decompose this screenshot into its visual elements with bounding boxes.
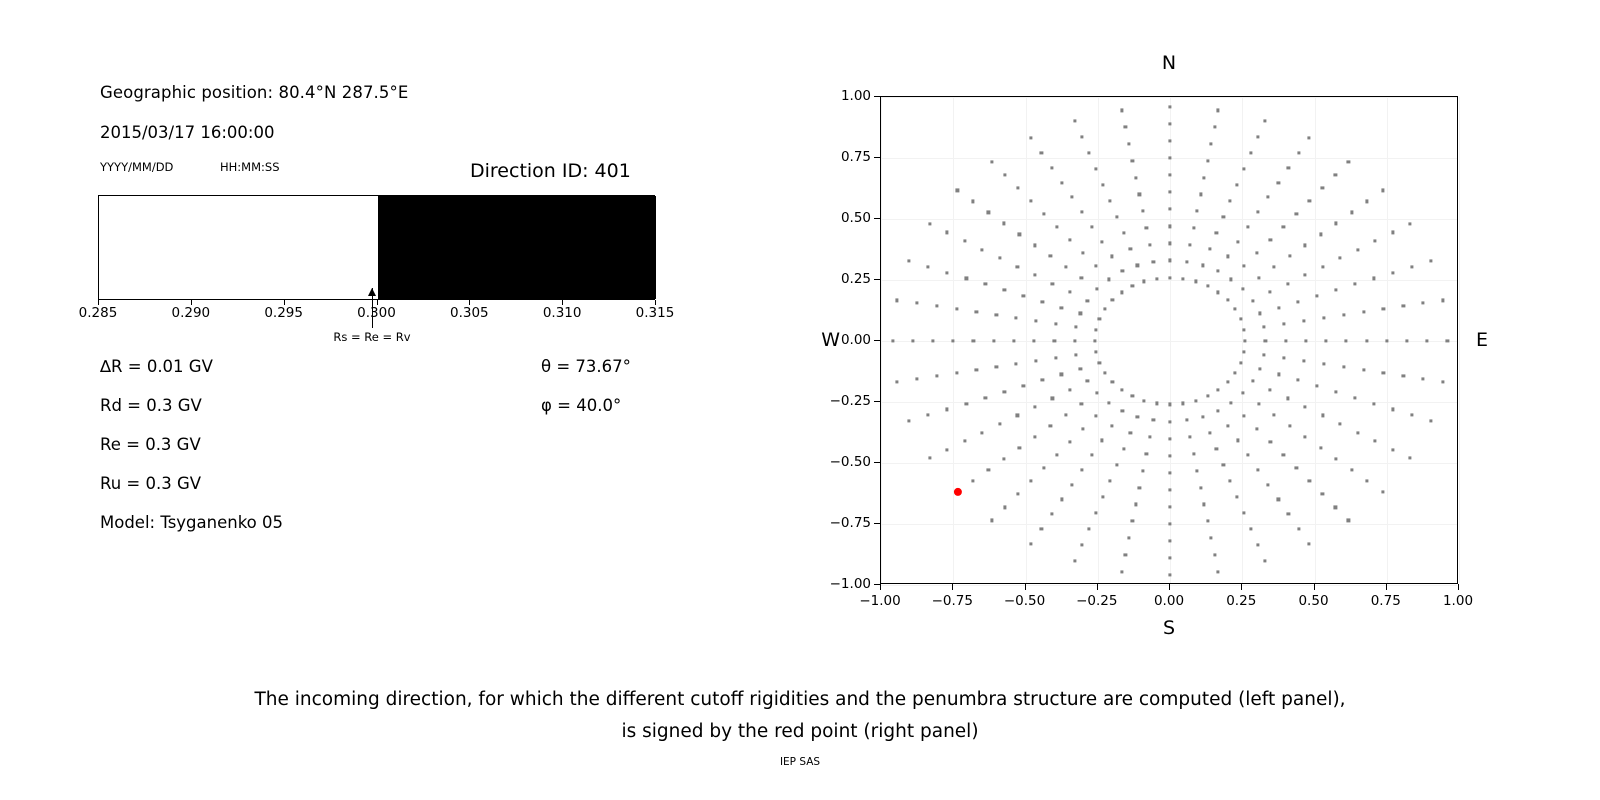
direction-point	[1365, 200, 1368, 203]
direction-point	[1382, 308, 1385, 311]
direction-point	[1107, 401, 1110, 404]
direction-point	[946, 271, 949, 274]
direction-point	[1244, 339, 1247, 342]
direction-point	[1391, 231, 1394, 234]
penumbra-tick-label: 0.310	[543, 305, 582, 321]
direction-point	[1060, 306, 1063, 309]
direction-point	[1101, 183, 1104, 186]
direction-point	[1381, 189, 1384, 192]
caption-line-1: The incoming direction, for which the di…	[0, 684, 1600, 716]
direction-point	[1282, 453, 1285, 456]
direction-point	[1229, 479, 1232, 482]
direction-point	[1322, 362, 1325, 365]
direction-point	[987, 211, 990, 214]
parameter-ru: Ru = 0.3 GV	[100, 474, 201, 493]
scatter-y-tick	[874, 340, 880, 341]
direction-point	[1051, 282, 1054, 285]
direction-point	[965, 402, 968, 405]
direction-point	[1257, 402, 1260, 405]
direction-point	[1053, 339, 1056, 342]
direction-point	[1168, 122, 1171, 125]
direction-point	[1080, 277, 1083, 280]
grid-line-horizontal	[881, 97, 1457, 98]
direction-point	[1064, 266, 1067, 269]
direction-point	[1018, 233, 1021, 236]
direction-point	[1365, 339, 1368, 342]
direction-point	[1136, 264, 1139, 267]
direction-point	[1081, 427, 1084, 430]
direction-point	[1168, 437, 1171, 440]
direction-point	[1070, 483, 1073, 486]
direction-point	[1391, 448, 1394, 451]
direction-point	[1168, 539, 1171, 542]
direction-point	[1060, 373, 1063, 376]
direction-point	[1304, 339, 1307, 342]
direction-point	[1374, 439, 1377, 442]
direction-point	[1094, 265, 1097, 268]
direction-point	[1168, 208, 1171, 211]
penumbra-tick-label: 0.290	[172, 305, 211, 321]
direction-point	[1243, 414, 1246, 417]
direction-point	[1233, 308, 1236, 311]
direction-point	[965, 277, 968, 280]
direction-point	[1242, 328, 1245, 331]
scatter-x-tick	[1097, 584, 1098, 590]
direction-point	[1267, 483, 1270, 486]
parameter-model: Model: Tsyganenko 05	[100, 513, 283, 532]
scatter-y-tick-label: −0.75	[830, 515, 871, 531]
scatter-x-tick	[1169, 584, 1170, 590]
direction-point	[1272, 266, 1275, 269]
direction-point	[1243, 167, 1246, 170]
direction-point	[1188, 436, 1191, 439]
penumbra-tick-label: 0.300	[357, 305, 396, 321]
direction-point	[1257, 277, 1260, 280]
direction-point	[955, 371, 958, 374]
direction-point	[1319, 446, 1322, 449]
scatter-x-tick	[1241, 584, 1242, 590]
direction-point	[1356, 431, 1359, 434]
direction-point	[1145, 452, 1148, 455]
direction-point	[1315, 294, 1318, 297]
grid-line-vertical	[1315, 97, 1316, 583]
direction-point	[1100, 240, 1103, 243]
direction-point	[1035, 359, 1038, 362]
direction-point	[956, 189, 959, 192]
grid-line-horizontal	[881, 219, 1457, 220]
direction-point	[1304, 405, 1307, 408]
direction-point	[1131, 284, 1134, 287]
direction-point	[1080, 135, 1083, 138]
direction-point	[1022, 294, 1025, 297]
direction-point	[1143, 399, 1146, 402]
direction-point	[1287, 513, 1290, 516]
direction-point	[1124, 553, 1127, 556]
direction-point	[1134, 503, 1137, 506]
direction-point	[1103, 308, 1106, 311]
scatter-x-tick-label: 0.75	[1371, 593, 1401, 609]
direction-point	[1206, 520, 1209, 523]
time-format-label: HH:MM:SS	[220, 160, 280, 174]
scatter-x-tick	[1458, 584, 1459, 590]
direction-point	[1033, 405, 1036, 408]
direction-point	[1120, 291, 1123, 294]
figure-canvas: Geographic position: 80.4°N 287.5°E 2015…	[0, 0, 1600, 800]
direction-point	[1402, 374, 1405, 377]
direction-point	[1145, 226, 1148, 229]
direction-point	[1381, 490, 1384, 493]
direction-point	[992, 339, 995, 342]
direction-point	[972, 339, 975, 342]
direction-point	[1382, 371, 1385, 374]
direction-point	[1141, 210, 1144, 213]
direction-point	[1215, 447, 1218, 450]
direction-point	[1286, 282, 1289, 285]
direction-point	[1192, 452, 1195, 455]
direction-point	[1155, 402, 1158, 405]
scatter-x-tick	[1386, 584, 1387, 590]
direction-point	[1121, 409, 1124, 412]
direction-point	[1342, 365, 1345, 368]
direction-point	[911, 339, 914, 342]
grid-line-vertical	[1026, 97, 1027, 583]
compass-west-label: W	[821, 329, 840, 351]
scatter-x-tick-label: 1.00	[1443, 593, 1473, 609]
direction-point	[1315, 384, 1318, 387]
direction-point	[1287, 166, 1290, 169]
grid-line-horizontal	[881, 463, 1457, 464]
direction-point	[1090, 225, 1093, 228]
direction-point	[1152, 419, 1155, 422]
direction-point	[1350, 468, 1353, 471]
direction-point	[1002, 222, 1005, 225]
scatter-x-tick-label: −1.00	[859, 593, 900, 609]
direction-point	[1347, 160, 1350, 163]
direction-point	[1152, 260, 1155, 263]
direction-point	[1342, 314, 1345, 317]
direction-point	[1277, 181, 1280, 184]
direction-point	[1060, 181, 1063, 184]
direction-point	[908, 420, 911, 423]
direction-point	[1199, 486, 1202, 489]
direction-point	[1074, 353, 1077, 356]
direction-point	[1050, 166, 1053, 169]
scatter-y-tick-label: 0.50	[841, 210, 871, 226]
direction-point	[1246, 454, 1249, 457]
direction-point	[1206, 394, 1209, 397]
caption-line-2: is signed by the red point (right panel)	[0, 716, 1600, 748]
direction-point	[1131, 394, 1134, 397]
direction-point	[1334, 390, 1337, 393]
direction-point	[1350, 211, 1353, 214]
direction-point	[1086, 299, 1089, 302]
direction-point	[1049, 424, 1052, 427]
direction-point	[1194, 399, 1197, 402]
direction-point	[1094, 167, 1097, 170]
direction-point	[1168, 471, 1171, 474]
direction-point	[1098, 318, 1101, 321]
direction-point	[1213, 553, 1216, 556]
direction-point	[1226, 299, 1229, 302]
direction-point	[1086, 380, 1089, 383]
direction-point	[1120, 109, 1123, 112]
direction-point	[1334, 506, 1337, 509]
direction-point	[1094, 414, 1097, 417]
direction-point	[1185, 419, 1188, 422]
direction-point	[1018, 446, 1021, 449]
direction-point	[1304, 274, 1307, 277]
direction-point	[1243, 511, 1246, 514]
direction-point	[1168, 454, 1171, 457]
scatter-y-tick-label: 0.75	[841, 149, 871, 165]
direction-point	[1269, 291, 1272, 294]
scatter-y-tick	[874, 96, 880, 97]
direction-point	[1296, 300, 1299, 303]
direction-point	[1322, 317, 1325, 320]
direction-point	[908, 259, 911, 262]
direction-point	[955, 308, 958, 311]
direction-point	[1094, 350, 1097, 353]
direction-point	[1264, 339, 1267, 342]
direction-point	[1353, 283, 1356, 286]
direction-point	[1217, 291, 1220, 294]
direction-point	[915, 302, 918, 305]
direction-point	[1074, 560, 1077, 563]
direction-point	[1385, 339, 1388, 342]
direction-point	[1256, 252, 1259, 255]
direction-point	[1210, 536, 1213, 539]
direction-point	[1334, 222, 1337, 225]
scatter-y-tick-label: −0.25	[830, 393, 871, 409]
direction-point	[1124, 126, 1127, 129]
direction-point	[1251, 299, 1254, 302]
direction-point	[1362, 368, 1365, 371]
direction-point	[927, 414, 930, 417]
direction-point	[981, 248, 984, 251]
direction-point	[1087, 151, 1090, 154]
compass-north-label: N	[1162, 52, 1176, 74]
direction-point	[1410, 265, 1413, 268]
grid-line-horizontal	[881, 280, 1457, 281]
direction-point	[1229, 200, 1232, 203]
direction-point	[1181, 402, 1184, 405]
direction-point	[1095, 288, 1098, 291]
direction-point	[1345, 339, 1348, 342]
direction-point	[1168, 522, 1171, 525]
direction-point	[1131, 520, 1134, 523]
direction-point	[1095, 391, 1098, 394]
direction-point	[1409, 457, 1412, 460]
direction-point	[1246, 225, 1249, 228]
direction-point	[1168, 225, 1171, 228]
scatter-y-tick	[874, 462, 880, 463]
direction-point	[1098, 361, 1101, 364]
footer-credit: IEP SAS	[0, 756, 1600, 768]
direction-point	[1022, 384, 1025, 387]
direction-point	[1143, 280, 1146, 283]
direction-point	[1442, 299, 1445, 302]
parameter-theta: θ = 73.67°	[541, 357, 631, 376]
direction-point	[1201, 415, 1204, 418]
direction-point	[1241, 391, 1244, 394]
grid-line-vertical	[881, 97, 882, 583]
direction-point	[1016, 414, 1019, 417]
direction-point	[1405, 339, 1408, 342]
direction-point	[990, 519, 993, 522]
direction-point	[1402, 305, 1405, 308]
direction-point	[1208, 248, 1211, 251]
direction-point	[1201, 264, 1204, 267]
direction-point	[1122, 447, 1125, 450]
scatter-y-tick	[874, 218, 880, 219]
direction-point	[1168, 259, 1171, 262]
selected-direction-point[interactable]	[953, 488, 961, 496]
parameter-re: Re = 0.3 GV	[100, 435, 201, 454]
direction-point	[1168, 574, 1171, 577]
direction-point	[1334, 457, 1337, 460]
direction-point	[1003, 506, 1006, 509]
direction-point	[1080, 468, 1083, 471]
direction-point	[1356, 248, 1359, 251]
direction-point	[1269, 440, 1272, 443]
direction-point	[1249, 151, 1252, 154]
direction-point	[1103, 371, 1106, 374]
direction-point	[984, 396, 987, 399]
direction-point	[1196, 210, 1199, 213]
direction-point	[1217, 109, 1220, 112]
direction-point	[1295, 467, 1298, 470]
direction-point	[1236, 240, 1239, 243]
direction-point	[1168, 105, 1171, 108]
direction-point	[1256, 135, 1259, 138]
direction-point	[1216, 270, 1219, 273]
direction-point	[1243, 265, 1246, 268]
left-panel: Geographic position: 80.4°N 287.5°E 2015…	[0, 0, 760, 620]
direction-point	[1410, 414, 1413, 417]
direction-point	[1203, 503, 1206, 506]
direction-point	[1080, 211, 1083, 214]
direction-point	[1003, 288, 1006, 291]
direction-point	[1016, 186, 1019, 189]
direction-point	[1121, 270, 1124, 273]
direction-point	[1030, 542, 1033, 545]
direction-point	[1079, 312, 1082, 315]
direction-point	[1079, 367, 1082, 370]
direction-point	[1226, 424, 1229, 427]
direction-point	[1131, 159, 1134, 162]
direction-point	[952, 339, 955, 342]
direction-point	[1256, 543, 1259, 546]
grid-line-horizontal	[881, 341, 1457, 342]
direction-point	[1277, 498, 1280, 501]
direction-point	[931, 339, 934, 342]
scatter-x-tick	[880, 584, 881, 590]
direction-point	[1080, 543, 1083, 546]
direction-point	[1168, 156, 1171, 159]
scatter-x-tick	[1314, 584, 1315, 590]
direction-point	[1263, 119, 1266, 122]
direction-point	[1391, 408, 1394, 411]
direction-point	[1033, 339, 1036, 342]
direction-point	[1115, 216, 1118, 219]
direction-point	[1295, 212, 1298, 215]
geographic-position-label: Geographic position: 80.4°N 287.5°E	[100, 83, 408, 102]
direction-point	[1107, 278, 1110, 281]
direction-point	[1308, 199, 1311, 202]
scatter-y-tick	[874, 401, 880, 402]
direction-point	[1446, 339, 1449, 342]
direction-point	[1334, 288, 1337, 291]
penumbra-tick-label: 0.295	[264, 305, 303, 321]
direction-point	[1242, 350, 1245, 353]
direction-point	[1217, 388, 1220, 391]
direction-point	[1321, 186, 1324, 189]
direction-point	[963, 239, 966, 242]
direction-scatter-panel: N S W E −1.00−0.75−0.50−0.250.000.250.50…	[880, 96, 1458, 584]
direction-point	[1108, 479, 1111, 482]
direction-point	[1155, 277, 1158, 280]
direction-point	[935, 305, 938, 308]
direction-point	[1080, 402, 1083, 405]
penumbra-band-forbidden	[378, 196, 657, 299]
direction-point	[1168, 403, 1171, 406]
direction-point	[1068, 291, 1071, 294]
direction-point	[971, 200, 974, 203]
direction-point	[1094, 511, 1097, 514]
scatter-y-tick	[874, 523, 880, 524]
direction-point	[1129, 431, 1132, 434]
direction-point	[1303, 244, 1306, 247]
direction-point	[1282, 322, 1285, 325]
direction-point	[1222, 216, 1225, 219]
direction-point	[1041, 300, 1044, 303]
direction-point	[1203, 176, 1206, 179]
direction-point	[1168, 276, 1171, 279]
scatter-x-tick	[952, 584, 953, 590]
direction-point	[1282, 225, 1285, 228]
direction-point	[1199, 193, 1202, 196]
direction-point	[1302, 319, 1305, 322]
direction-point	[1070, 196, 1073, 199]
grid-line-vertical	[1170, 97, 1171, 583]
date-format-label: YYYY/MM/DD	[100, 160, 173, 174]
direction-point	[1016, 265, 1019, 268]
direction-point	[971, 479, 974, 482]
direction-point	[1429, 420, 1432, 423]
direction-point	[1284, 339, 1287, 342]
parameter-rd: Rd = 0.3 GV	[100, 396, 202, 415]
direction-point	[1168, 420, 1171, 423]
direction-point	[1090, 454, 1093, 457]
direction-point	[1060, 498, 1063, 501]
scatter-y-tick	[874, 157, 880, 158]
scatter-x-tick-label: −0.50	[1004, 593, 1045, 609]
direction-point	[984, 283, 987, 286]
direction-point	[1041, 379, 1044, 382]
direction-point	[1111, 380, 1114, 383]
direction-point	[1033, 274, 1036, 277]
direction-point	[1282, 356, 1285, 359]
direction-point	[1055, 225, 1058, 228]
direction-point	[895, 380, 898, 383]
direction-point	[998, 422, 1001, 425]
direction-point	[1141, 469, 1144, 472]
direction-point	[927, 265, 930, 268]
direction-point	[1168, 173, 1171, 176]
direction-point	[1029, 199, 1032, 202]
direction-point	[1236, 439, 1239, 442]
scatter-y-tick-label: 1.00	[841, 88, 871, 104]
